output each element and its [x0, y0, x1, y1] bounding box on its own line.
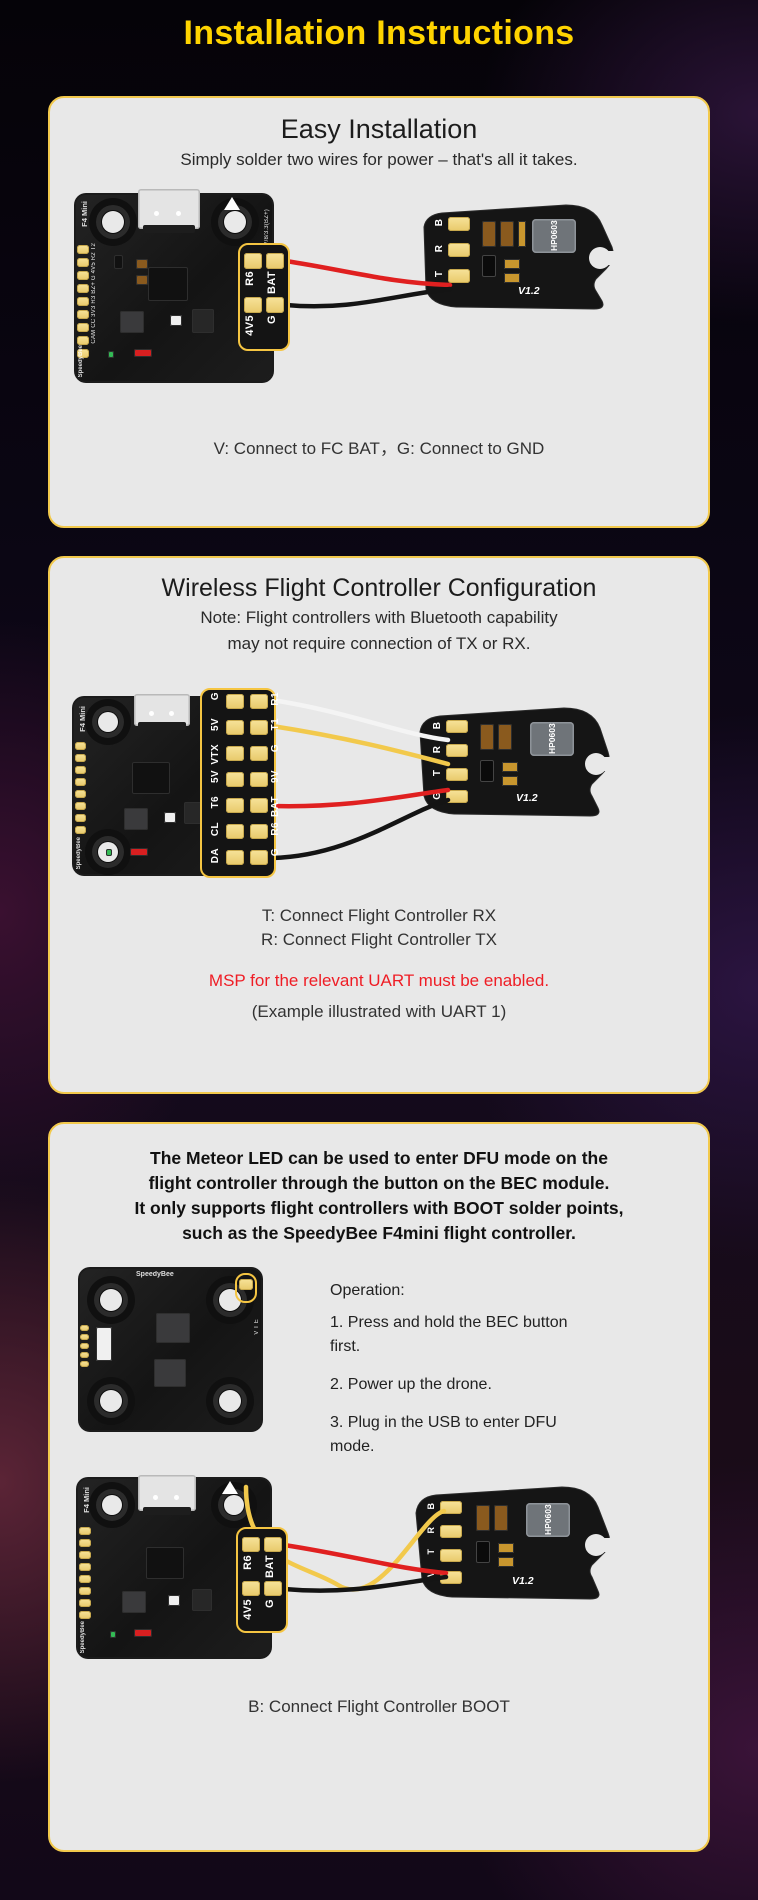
page-title: Installation Instructions: [0, 0, 758, 53]
mount-hole-top-left-3: [94, 1283, 128, 1317]
bec2-pad-r: [446, 744, 468, 757]
pad-4v5-4: [242, 1581, 260, 1596]
fc2-left-pad-column: [75, 742, 86, 834]
bec2-pad-label-b: B: [432, 722, 443, 729]
component-brown-1: [136, 259, 148, 269]
pad-r6-4: [242, 1537, 260, 1552]
pad-label-4v5: 4V5: [244, 315, 256, 336]
component-dark-4: [192, 1589, 212, 1611]
pad-da-g-left: [226, 850, 244, 865]
pad-t6-bat-left: [226, 798, 244, 813]
component-white-1: [170, 315, 182, 326]
bec2-resistor-1: [480, 724, 494, 750]
bec3-resistor-1: [476, 1505, 490, 1531]
card2-caption-line2: R: Connect Flight Controller TX: [50, 928, 708, 953]
pad-bat-4: [264, 1537, 282, 1552]
gyro-chip-2: [124, 808, 148, 830]
pad-bat: [266, 253, 284, 269]
bec2-pad-t: [446, 768, 468, 781]
bec-capacitor-1: [518, 221, 526, 247]
operation-step-1: 1. Press and hold the BEC button first.: [330, 1311, 580, 1359]
card2-example: (Example illustrated with UART 1): [50, 1000, 708, 1025]
pad-label-5v-1: 5V: [210, 718, 221, 731]
bec-inductor-chip: HP0603: [532, 219, 576, 253]
bec3-capacitor-2: [498, 1557, 514, 1567]
boot-pad: [239, 1279, 253, 1290]
bec3-side-label-r: R: [426, 1527, 436, 1534]
bec3-side-label-v: V: [426, 1571, 436, 1577]
bec2-inductor-chip: HP0603: [530, 722, 574, 756]
card1-caption: V: Connect to FC BAT，G: Connect to GND: [50, 437, 708, 462]
bec-resistor-1: [482, 221, 496, 247]
component-brown-2: [136, 275, 148, 285]
mcu-chip-2: [132, 762, 170, 794]
bec2-capacitor-2: [502, 776, 518, 786]
fc-brand2-label: SpeedyBee: [78, 345, 84, 377]
component-white-2: [164, 812, 176, 823]
pad-label-r6-2: R6: [270, 822, 281, 836]
card3-bold-line4: such as the SpeedyBee F4mini flight cont…: [50, 1221, 708, 1246]
bec-pad-label-t: T: [434, 271, 445, 277]
pad-label-r6: R6: [244, 271, 256, 286]
bec3-pad-t: [440, 1549, 462, 1562]
pad-label-r6-4: R6: [242, 1555, 254, 1570]
pad-r6: [244, 253, 262, 269]
bec3-pad-b: [440, 1501, 462, 1514]
fc-brand-label: F4 Mini: [80, 201, 89, 227]
pad-5v-9v-left: [226, 772, 244, 787]
component-white-4: [168, 1595, 180, 1606]
bec2-version-label: V1.2: [516, 792, 538, 804]
card3-bold-line1: The Meteor LED can be used to enter DFU …: [50, 1124, 708, 1171]
pad-g: [266, 297, 284, 313]
led-green-2: [106, 849, 112, 856]
card3-bold-line3: It only supports flight controllers with…: [50, 1196, 708, 1221]
component-dark-2: [114, 255, 123, 269]
bec2-pad-label-g: G: [432, 792, 443, 800]
bec2-capacitor-1: [502, 762, 518, 772]
bec3-chip-label: HP0603: [526, 1503, 570, 1537]
bec3-button[interactable]: [476, 1541, 490, 1563]
operation-block: Operation: 1. Press and hold the BEC but…: [330, 1279, 580, 1459]
gyro-chip-4: [122, 1591, 146, 1613]
mount-hole-bottom-left-3: [94, 1384, 128, 1418]
card2-caption-line1: T: Connect Flight Controller RX: [50, 904, 708, 929]
pad-5v-t1-right: [250, 720, 268, 735]
bec2-pad-g: [446, 790, 468, 803]
component-dark-1: [192, 309, 214, 333]
fc2-pad-matrix: G R1 5V T1 VTX G 5V 9V T6 BAT CL R6 DA G: [200, 688, 276, 878]
card3-bold-line2: flight controller through the button on …: [50, 1171, 708, 1196]
gyro-chip: [120, 311, 144, 333]
mcu-chip-4: [146, 1547, 184, 1579]
bec-capacitor-3: [504, 273, 520, 283]
bec-module-card1: B R T HP0603 V1.2: [416, 203, 616, 313]
fc4-left-pad-column: [79, 1527, 91, 1619]
installation-instructions-page: Installation Instructions Easy Installat…: [0, 0, 758, 1900]
fc3-connector: [96, 1327, 112, 1361]
bec2-button[interactable]: [480, 760, 494, 782]
pad-cl-r6-right: [250, 824, 268, 839]
card3-upper-diagram: SpeedyBee V T E Operation: [50, 1261, 708, 1451]
pad-g-4: [264, 1581, 282, 1596]
fc3-secondary-chip: [154, 1359, 186, 1387]
bec3-resistor-2: [494, 1505, 508, 1531]
pad-5v-9v-right: [250, 772, 268, 787]
fc-left-pad-labels: CAM CC 3V3 R3 BZ+ G 4V5 R2 T2: [91, 243, 97, 344]
card-wireless-configuration: Wireless Flight Controller Configuration…: [48, 556, 710, 1094]
pad-label-5v-2: 5V: [210, 770, 221, 783]
pad-label-g-2: G: [270, 744, 281, 752]
led-red: [134, 349, 152, 357]
pad-label-4v5-4: 4V5: [242, 1599, 254, 1620]
bec-module-card2: B R T G HP0603 V1.2: [412, 704, 612, 824]
pad-g-r1-left: [226, 694, 244, 709]
usb-c-port: [138, 189, 200, 229]
fc2-brand2-label: SpeedyBee: [76, 837, 82, 869]
card3-caption: B: Connect Flight Controller BOOT: [50, 1695, 708, 1720]
led-green: [108, 351, 114, 358]
bec3-inductor-chip: HP0603: [526, 1503, 570, 1537]
mount-hole-right: [218, 205, 252, 239]
card3-lower-diagram: F4 Mini SpeedyBee: [50, 1461, 708, 1681]
pad-label-g-4: G: [264, 1599, 276, 1608]
fc3-side-labels: V T E: [254, 1319, 260, 1335]
bec3-capacitor-1: [498, 1543, 514, 1553]
bec-resistor-2: [500, 221, 514, 247]
bec3-version-label: V1.2: [512, 1575, 534, 1587]
direction-arrow-icon: [224, 197, 240, 210]
pad-label-t6: T6: [210, 796, 221, 808]
pad-t6-bat-right: [250, 798, 268, 813]
bec3-pad-r: [440, 1525, 462, 1538]
bec2-chip-label: HP0603: [530, 722, 574, 756]
operation-title: Operation:: [330, 1279, 580, 1303]
bec-capacitor-2: [504, 259, 520, 269]
pad-label-g-3: G: [270, 848, 281, 856]
card2-heading: Wireless Flight Controller Configuration: [50, 558, 708, 603]
pad-vtx-g-right: [250, 746, 268, 761]
pad-label-bat-4: BAT: [264, 1555, 276, 1578]
bec-pad-label-r: R: [434, 245, 445, 252]
bec2-resistor-2: [498, 724, 512, 750]
bec-button[interactable]: [482, 255, 496, 277]
pad-label-bat-2: BAT: [270, 796, 281, 817]
bec-version-label: V1.2: [518, 285, 540, 297]
card2-warning: MSP for the relevant UART must be enable…: [50, 969, 708, 994]
pad-g-r1-right: [250, 694, 268, 709]
card-dfu-mode: The Meteor LED can be used to enter DFU …: [48, 1122, 710, 1852]
pad-5v-t1-left: [226, 720, 244, 735]
pad-label-cl: CL: [210, 822, 221, 836]
card1-diagram: F4 Mini SpeedyBee 5V/8/3.3(BZ+) CAM CC: [50, 171, 708, 431]
pad-label-vtx: VTX: [210, 744, 221, 765]
led-red-2: [130, 848, 148, 856]
usb-c-port-2: [134, 694, 190, 726]
bec2-pad-b: [446, 720, 468, 733]
fc3-brand-label: SpeedyBee: [136, 1271, 174, 1278]
card2-note-line2: may not require connection of TX or RX.: [50, 629, 708, 655]
fc3-main-chip: [156, 1313, 190, 1343]
usb-c-port-3: [138, 1475, 196, 1511]
fc4-brand-label: F4 Mini: [82, 1487, 91, 1513]
fc3-left-pads: [80, 1325, 89, 1367]
fc4-brand2-label: SpeedyBee: [80, 1621, 86, 1653]
card1-subheading: Simply solder two wires for power – that…: [50, 145, 708, 171]
card1-heading: Easy Installation: [50, 98, 708, 145]
led-red-4: [134, 1629, 152, 1637]
fc-left-pad-column: [77, 245, 89, 358]
operation-step-3: 3. Plug in the USB to enter DFU mode.: [330, 1411, 580, 1459]
bec-module-card3: V T R B HP0603 V1.2: [408, 1483, 613, 1608]
bec-pad-t: [448, 269, 470, 283]
card-easy-installation: Easy Installation Simply solder two wire…: [48, 96, 710, 528]
bec3-side-label-b: B: [426, 1503, 436, 1510]
card2-diagram: F4 Mini SpeedyBee: [50, 668, 708, 898]
pad-4v5: [244, 297, 262, 313]
bec-pad-b: [448, 217, 470, 231]
mcu-chip: [148, 267, 188, 301]
mount-hole-left-4: [96, 1489, 128, 1521]
bec3-side-label-t: T: [426, 1549, 436, 1555]
pad-da-g-right: [250, 850, 268, 865]
pad-vtx-g-left: [226, 746, 244, 761]
pad-label-bat: BAT: [266, 271, 278, 294]
pad-label-9v: 9V: [270, 770, 281, 783]
bec2-pad-label-r: R: [432, 746, 443, 753]
bec-chip-label: HP0603: [532, 219, 576, 253]
pad-label-r1: R1: [270, 692, 281, 706]
bec-pad-r: [448, 243, 470, 257]
pad-label-t1: T1: [270, 718, 281, 730]
mount-hole-left-2: [92, 706, 124, 738]
led-green-4: [110, 1631, 116, 1638]
pad-label-g-1: G: [210, 692, 221, 700]
operation-step-2: 2. Power up the drone.: [330, 1373, 580, 1397]
direction-arrow-icon-2: [222, 1481, 238, 1494]
pad-label-g: G: [266, 315, 278, 324]
mount-hole-left: [96, 205, 130, 239]
bec3-pad-g: [440, 1571, 462, 1584]
pad-label-da: DA: [210, 848, 221, 863]
bec2-pad-label-t: T: [432, 770, 443, 776]
bec-pad-label-b: B: [434, 219, 445, 226]
fc2-brand-label: F4 Mini: [78, 706, 87, 732]
pad-cl-r6-left: [226, 824, 244, 839]
mount-hole-bottom-right-3: [213, 1384, 247, 1418]
card2-note-line1: Note: Flight controllers with Bluetooth …: [50, 603, 708, 629]
